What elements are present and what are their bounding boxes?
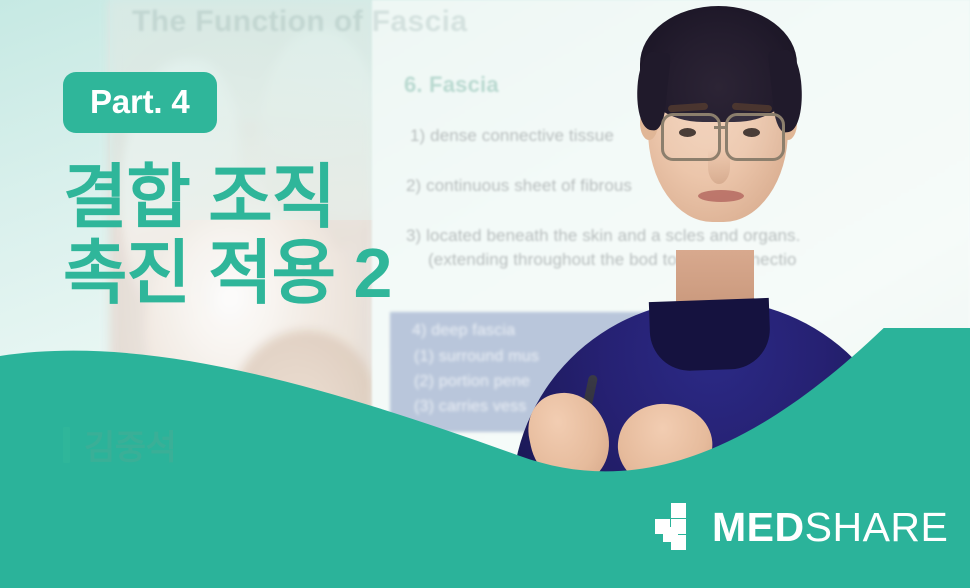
- accent-bar-icon: [63, 427, 70, 463]
- medshare-cross-icon: [655, 503, 699, 551]
- slide-heading: 6. Fascia: [404, 72, 499, 98]
- wordmark-med: MED: [712, 504, 805, 550]
- title-line-1: 결합 조직: [63, 158, 335, 236]
- part-badge: Part. 4: [63, 72, 217, 133]
- lecturer-name: 김중석: [84, 420, 176, 469]
- medshare-logo: MEDSHARE: [655, 503, 948, 551]
- video-thumbnail-canvas: The Function of Fascia 6. Fascia 1) dens…: [0, 0, 970, 588]
- title-line-2: 촉진 적용 2: [63, 236, 391, 312]
- wordmark-share: SHARE: [805, 504, 949, 550]
- lecturer-credit: 김중석: [63, 420, 176, 469]
- page-title: 결합 조직 촉진 적용 2: [63, 160, 391, 311]
- medshare-wordmark: MEDSHARE: [712, 507, 948, 548]
- slide-top-title: The Function of Fascia: [132, 5, 468, 39]
